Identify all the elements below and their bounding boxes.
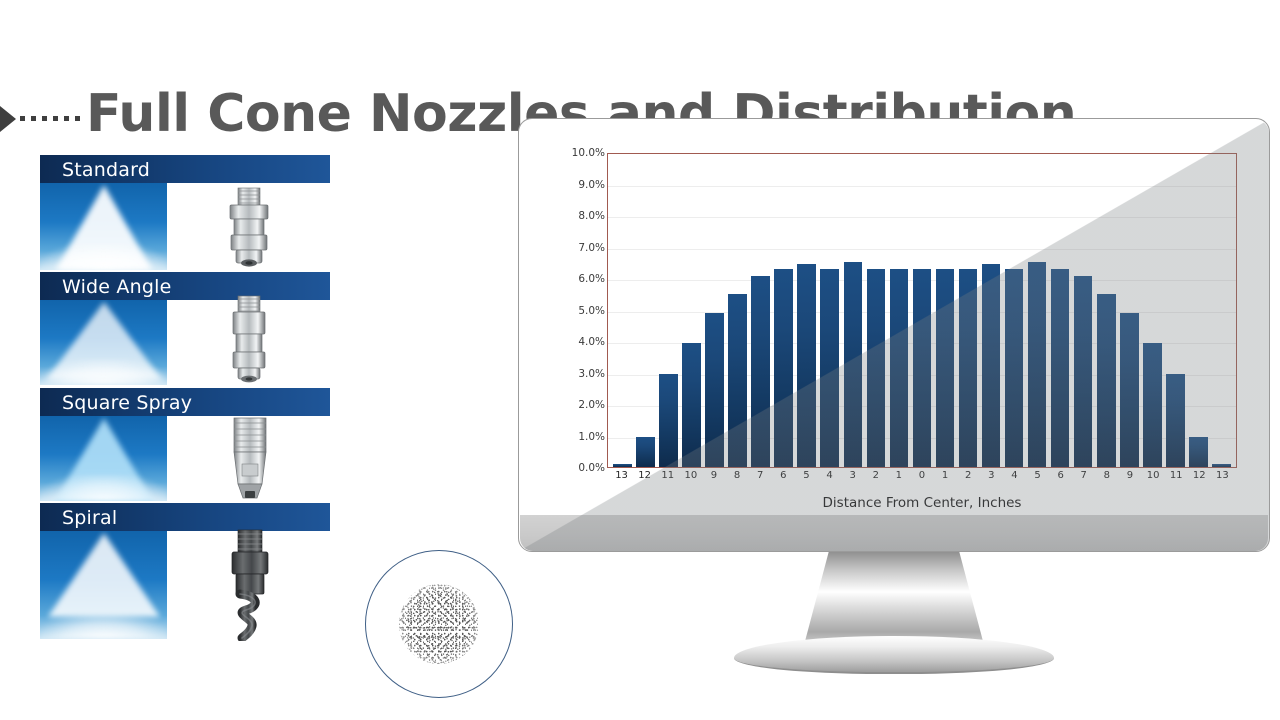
wide-cone-spray-icon [40,300,167,385]
x-axis-tick: 8 [1097,470,1116,488]
spiral-nozzle-icon [167,531,330,639]
x-axis-tick: 4 [820,470,839,488]
y-axis-tick: 3.0% [557,368,605,380]
y-axis-tick: 8.0% [557,210,605,222]
nozzle-label: Wide Angle [62,276,172,298]
y-axis-tick: 0.0% [557,462,605,474]
x-axis-tick: 11 [1167,470,1186,488]
monitor-lower-band [520,515,1268,551]
x-axis-tick: 6 [1051,470,1070,488]
nozzle-header-wide-angle: Wide Angle [40,272,330,300]
x-axis-tick: 9 [705,470,724,488]
nozzle-header-spiral: Spiral [40,503,330,531]
x-axis-tick: 11 [658,470,677,488]
arrow-right-icon [0,106,16,132]
x-axis-tick: 13 [612,470,631,488]
monitor-neck [804,550,984,645]
x-axis-tick: 1 [890,470,909,488]
nozzle-label: Spiral [62,507,117,529]
x-axis-tick: 4 [1005,470,1024,488]
y-axis-tick: 5.0% [557,305,605,317]
monitor-base [734,636,1054,674]
x-axis-tick: 7 [751,470,770,488]
bar [636,437,655,467]
nozzle-body [40,300,330,385]
bar [682,343,701,467]
x-axis-tick: 7 [1074,470,1093,488]
x-axis-tick: 13 [1213,470,1232,488]
wide-angle-nozzle-icon [167,300,330,385]
bar [1028,262,1047,467]
x-axis-tick: 6 [774,470,793,488]
x-axis-tick: 3 [982,470,1001,488]
bar [1212,464,1231,467]
nozzle-body [40,531,330,639]
nozzle-header-standard: Standard [40,155,330,183]
bar [913,269,932,467]
bar [959,269,978,467]
bar [1074,276,1093,467]
bar [1189,437,1208,467]
bar [1051,269,1070,467]
chart-plot-area [607,153,1237,468]
x-axis-tick: 1 [936,470,955,488]
spiral-cone-spray-icon [40,531,167,639]
x-axis-tick: 12 [1190,470,1209,488]
x-axis-tick-labels: 13121110987654321012345678910111213 [607,470,1237,488]
chart-bars [608,154,1236,467]
y-axis-tick: 9.0% [557,179,605,191]
nozzle-label: Standard [62,159,150,181]
y-axis-tick-labels: 10.0%9.0%8.0%7.0%6.0%5.0%4.0%3.0%2.0%1.0… [557,119,605,519]
x-axis-tick: 5 [1028,470,1047,488]
bar [613,464,632,467]
bar [1143,343,1162,467]
spray-droplet-pattern-icon [365,550,513,698]
y-axis-tick: 2.0% [557,399,605,411]
nozzle-header-square-spray: Square Spray [40,388,330,416]
title-bar: Full Cone Nozzles and Distribution [0,40,1280,110]
bar [728,294,747,467]
desktop-monitor-icon: 10.0%9.0%8.0%7.0%6.0%5.0%4.0%3.0%2.0%1.0… [518,118,1270,718]
x-axis-tick: 10 [682,470,701,488]
bar [659,374,678,467]
nozzle-body [40,416,330,501]
y-axis-tick: 1.0% [557,431,605,443]
bar [797,264,816,467]
bar [982,264,1001,467]
nozzle-panel-list: Standard [40,155,335,645]
x-axis-tick: 12 [635,470,654,488]
square-cone-spray-icon [40,416,167,501]
bar [774,269,793,467]
y-axis-tick: 4.0% [557,336,605,348]
nozzle-label: Square Spray [62,392,192,414]
droplet-speckle-field [399,584,479,664]
square-spray-nozzle-icon [167,416,330,501]
nozzle-body [40,183,330,270]
standard-nozzle-icon [167,183,330,270]
monitor-bezel: 10.0%9.0%8.0%7.0%6.0%5.0%4.0%3.0%2.0%1.0… [518,118,1270,552]
bar [705,313,724,467]
distribution-bar-chart[interactable]: 10.0%9.0%8.0%7.0%6.0%5.0%4.0%3.0%2.0%1.0… [519,119,1271,519]
bar [1097,294,1116,467]
x-axis-tick: 2 [959,470,978,488]
x-axis-tick: 3 [843,470,862,488]
x-axis-tick: 2 [866,470,885,488]
bar [867,269,886,467]
x-axis-tick: 8 [728,470,747,488]
y-axis-tick: 10.0% [557,147,605,159]
title-marker [0,102,80,132]
dotted-line-icon [20,116,80,121]
bar [936,269,955,467]
bar [844,262,863,467]
x-axis-tick: 5 [797,470,816,488]
bar [751,276,770,467]
bar [890,269,909,467]
bar [1120,313,1139,467]
x-axis-tick: 10 [1144,470,1163,488]
x-axis-tick: 9 [1121,470,1140,488]
bar [820,269,839,467]
cone-spray-icon [40,183,167,270]
y-axis-tick: 7.0% [557,242,605,254]
y-axis-tick: 6.0% [557,273,605,285]
x-axis-title: Distance From Center, Inches [607,495,1237,511]
bar [1005,269,1024,467]
bar [1166,374,1185,467]
x-axis-tick: 0 [913,470,932,488]
